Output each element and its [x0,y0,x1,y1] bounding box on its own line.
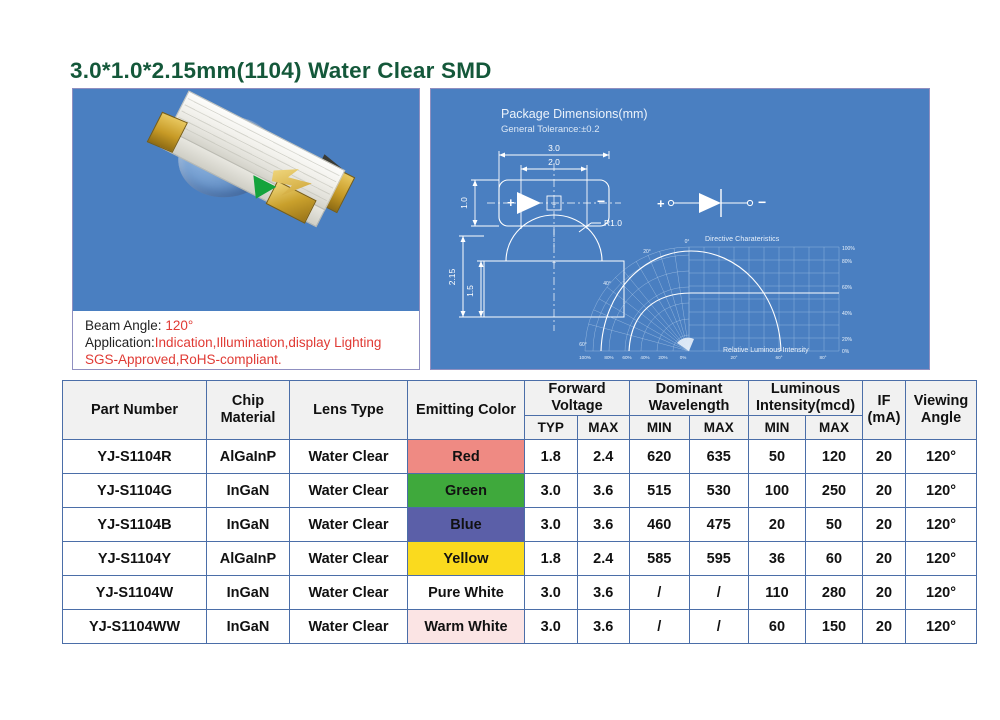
chip-material-cell: InGaN [207,474,290,508]
header-chip-material: Chip Material [207,381,290,440]
header-wl-min: MIN [630,416,690,440]
header-emitting-color: Emitting Color [408,381,525,440]
header-forward-voltage: Forward Voltage [525,381,630,416]
svg-text:60°: 60° [579,342,587,348]
svg-text:20°: 20° [643,249,651,255]
emitting-color-cell: Red [408,440,525,474]
wl-min-cell: 620 [630,440,690,474]
lens-type-cell: Water Clear [290,610,408,644]
beam-angle-value: 120° [165,318,193,333]
if-typ-cell: 20 [863,440,906,474]
vf-typ-cell: 3.0 [525,508,578,542]
table-row: YJ-S1104WWInGaNWater ClearWarm White3.03… [63,610,977,644]
svg-text:40°: 40° [603,281,611,287]
part-number-cell: YJ-S1104W [63,576,207,610]
datasheet-page: 3.0*1.0*2.15mm(1104) Water Clear SMD [0,0,1000,720]
application-line: Application:Indication,Illumination,disp… [85,334,415,351]
chip-material-cell: InGaN [207,576,290,610]
application-value: Indication,Illumination,display Lighting [155,335,382,350]
svg-text:20°: 20° [731,355,738,360]
svg-text:+: + [552,202,556,209]
table-header-row-main: Part Number Chip Material Lens Type Emit… [63,381,977,416]
vf-typ-cell: 3.0 [525,576,578,610]
table-row: YJ-S1104BInGaNWater ClearBlue3.03.646047… [63,508,977,542]
svg-text:60%: 60% [622,355,631,360]
svg-text:40%: 40% [640,355,649,360]
vf-typ-cell: 1.8 [525,440,578,474]
svg-text:60%: 60% [842,285,853,291]
iv-min-cell: 110 [749,576,806,610]
svg-text:0°: 0° [685,239,690,245]
svg-text:60°: 60° [776,355,783,360]
svg-text:−: − [597,193,605,209]
wl-max-cell: 475 [689,508,749,542]
svg-text:80%: 80% [604,355,613,360]
lens-type-cell: Water Clear [290,474,408,508]
vf-max-cell: 2.4 [577,542,630,576]
table-row: YJ-S1104YAlGaInPWater ClearYellow1.82.45… [63,542,977,576]
iv-max-cell: 120 [806,440,863,474]
wl-min-cell: 585 [630,542,690,576]
table-row: YJ-S1104GInGaNWater ClearGreen3.03.65155… [63,474,977,508]
svg-text:100%: 100% [842,246,855,252]
header-if-ma: IF (mA) [863,381,906,440]
svg-text:20%: 20% [658,355,667,360]
photo-caption-block: Beam Angle: 120° Application:Indication,… [85,317,415,368]
led-package-body [161,90,346,225]
vf-max-cell: 3.6 [577,474,630,508]
viewing-angle-cell: 120° [906,542,977,576]
svg-text:0%: 0% [842,349,850,355]
beam-angle-label: Beam Angle: [85,318,165,333]
beam-angle-line: Beam Angle: 120° [85,317,415,334]
table-row: YJ-S1104WInGaNWater ClearPure White3.03.… [63,576,977,610]
table-body: YJ-S1104RAlGaInPWater ClearRed1.82.46206… [63,440,977,644]
header-vf-max: MAX [577,416,630,440]
wl-min-cell: / [630,576,690,610]
iv-min-cell: 100 [749,474,806,508]
part-number-cell: YJ-S1104B [63,508,207,542]
page-title: 3.0*1.0*2.15mm(1104) Water Clear SMD [70,58,492,84]
svg-text:+: + [657,196,665,211]
wl-max-cell: 530 [689,474,749,508]
svg-text:80°: 80° [820,355,827,360]
svg-text:80%: 80% [842,259,853,265]
svg-text:+: + [552,260,556,267]
vf-max-cell: 3.6 [577,508,630,542]
wl-max-cell: 635 [689,440,749,474]
iv-max-cell: 250 [806,474,863,508]
viewing-angle-cell: 120° [906,576,977,610]
if-typ-cell: 20 [863,576,906,610]
svg-text:1.0: 1.0 [459,197,469,209]
package-drawing: + + − 3.0 2.0 1.0 + − [431,89,930,370]
viewing-angle-cell: 120° [906,508,977,542]
viewing-angle-cell: 120° [906,440,977,474]
specification-table: Part Number Chip Material Lens Type Emit… [62,380,977,644]
header-viewing-angle: Viewing Angle [906,381,977,440]
table-head: Part Number Chip Material Lens Type Emit… [63,381,977,440]
part-number-cell: YJ-S1104R [63,440,207,474]
wl-min-cell: 515 [630,474,690,508]
directive-characteristics-title: Directive Charateristics [705,236,779,243]
if-typ-cell: 20 [863,508,906,542]
lens-type-cell: Water Clear [290,508,408,542]
header-dominant-wavelength: Dominant Wavelength [630,381,749,416]
part-number-cell: YJ-S1104Y [63,542,207,576]
svg-text:3.0: 3.0 [548,143,560,153]
iv-max-cell: 150 [806,610,863,644]
header-part-number: Part Number [63,381,207,440]
header-vf-typ: TYP [525,416,578,440]
svg-text:40%: 40% [842,311,853,317]
relative-luminous-intensity-caption: Relative Luminous Intensity [723,347,809,354]
part-number-cell: YJ-S1104WW [63,610,207,644]
svg-text:1.5: 1.5 [465,285,475,297]
wl-max-cell: / [689,610,749,644]
svg-text:2.15: 2.15 [447,268,457,285]
chip-material-cell: AlGaInP [207,542,290,576]
wl-max-cell: 595 [689,542,749,576]
svg-text:R1.0: R1.0 [604,218,622,228]
viewing-angle-cell: 120° [906,610,977,644]
svg-text:2.0: 2.0 [548,157,560,167]
lens-type-cell: Water Clear [290,542,408,576]
svg-text:0%: 0% [680,355,687,360]
header-iv-min: MIN [749,416,806,440]
vf-typ-cell: 3.0 [525,610,578,644]
header-lens-type: Lens Type [290,381,408,440]
wl-min-cell: / [630,610,690,644]
product-photo [73,89,419,311]
iv-min-cell: 36 [749,542,806,576]
emitting-color-cell: Blue [408,508,525,542]
header-iv-max: MAX [806,416,863,440]
compliance-value: SGS-Approved,RoHS-compliant. [85,352,282,367]
vf-max-cell: 2.4 [577,440,630,474]
iv-min-cell: 20 [749,508,806,542]
wl-max-cell: / [689,576,749,610]
iv-max-cell: 60 [806,542,863,576]
wl-min-cell: 460 [630,508,690,542]
iv-max-cell: 280 [806,576,863,610]
application-label: Application: [85,335,155,350]
emitting-color-cell: Warm White [408,610,525,644]
lens-type-cell: Water Clear [290,440,408,474]
if-typ-cell: 20 [863,610,906,644]
chip-material-cell: InGaN [207,508,290,542]
iv-min-cell: 50 [749,440,806,474]
if-typ-cell: 20 [863,542,906,576]
package-dimensions-panel: Package Dimensions(mm) General Tolerance… [430,88,930,370]
svg-text:+: + [507,195,515,210]
vf-typ-cell: 1.8 [525,542,578,576]
iv-min-cell: 60 [749,610,806,644]
svg-text:−: − [758,194,766,210]
svg-text:100%: 100% [579,355,591,360]
table-row: YJ-S1104RAlGaInPWater ClearRed1.82.46206… [63,440,977,474]
header-wl-max: MAX [689,416,749,440]
compliance-line: SGS-Approved,RoHS-compliant. [85,351,415,368]
iv-max-cell: 50 [806,508,863,542]
vf-max-cell: 3.6 [577,576,630,610]
emitting-color-cell: Green [408,474,525,508]
header-luminous-intensity: Luminous Intensity(mcd) [749,381,863,416]
led-illustration [73,89,419,311]
emitting-color-cell: Pure White [408,576,525,610]
vf-typ-cell: 3.0 [525,474,578,508]
vf-max-cell: 3.6 [577,610,630,644]
emitting-color-cell: Yellow [408,542,525,576]
if-typ-cell: 20 [863,474,906,508]
lens-type-cell: Water Clear [290,576,408,610]
chip-material-cell: AlGaInP [207,440,290,474]
chip-material-cell: InGaN [207,610,290,644]
svg-text:20%: 20% [842,337,853,343]
product-photo-panel: Beam Angle: 120° Application:Indication,… [72,88,420,370]
part-number-cell: YJ-S1104G [63,474,207,508]
viewing-angle-cell: 120° [906,474,977,508]
